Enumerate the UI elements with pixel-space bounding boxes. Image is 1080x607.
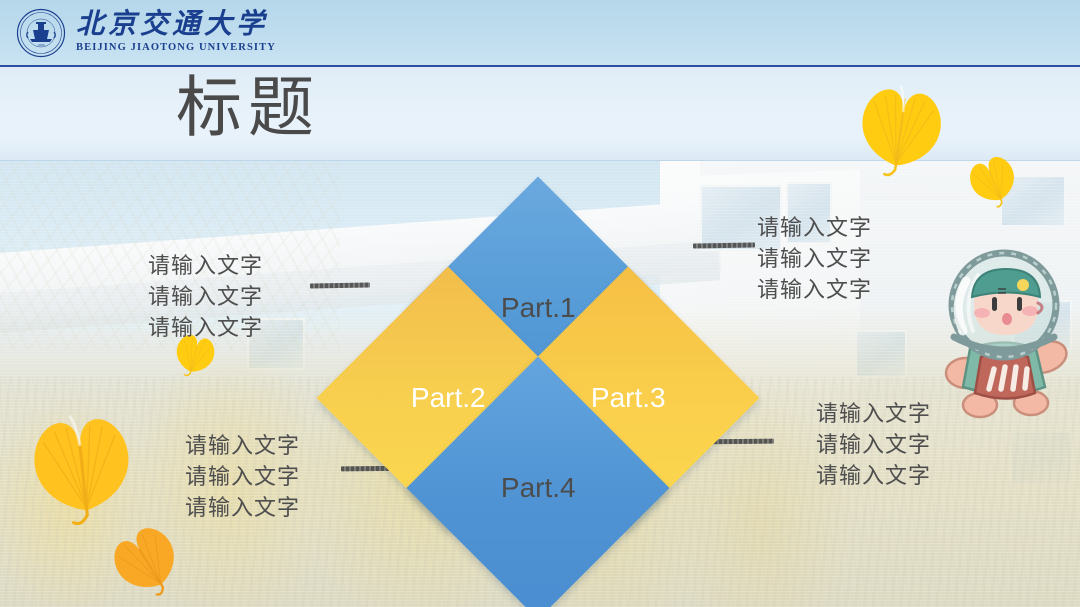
- callout-line: 请输入文字: [757, 243, 872, 274]
- page-title: 标题: [176, 74, 320, 140]
- slide-header: 1896 北京交通大学 BEIJING JIAOTONG UNIVERSITY: [0, 0, 1080, 67]
- callout-bottom-right[interactable]: 请输入文字 请输入文字 请输入文字: [816, 398, 931, 492]
- callout-line: 请输入文字: [185, 461, 300, 492]
- callout-line: 请输入文字: [816, 460, 931, 491]
- university-wordmark: 北京交通大学 BEIJING JIAOTONG UNIVERSITY: [76, 11, 276, 54]
- diagram-part-1-label: Part.1: [501, 292, 576, 324]
- callout-line: 请输入文字: [148, 250, 263, 281]
- astronaut-mascot-icon: [918, 245, 1080, 420]
- diagram-part-4-label: Part.4: [501, 472, 576, 504]
- callout-top-left[interactable]: 请输入文字 请输入文字 请输入文字: [148, 250, 263, 344]
- diagram-part-3-label: Part.3: [591, 382, 666, 414]
- presentation-slide: 1896 北京交通大学 BEIJING JIAOTONG UNIVERSITY …: [0, 0, 1080, 607]
- svg-text:1896: 1896: [38, 43, 45, 47]
- callout-bottom-left[interactable]: 请输入文字 请输入文字 请输入文字: [185, 430, 300, 524]
- leaf-bottom-left-small-icon: [106, 522, 186, 598]
- university-name-cn: 北京交通大学: [76, 11, 276, 39]
- callout-line: 请输入文字: [757, 274, 872, 305]
- diagram-part-2-label: Part.2: [411, 382, 486, 414]
- university-logo: 1896 北京交通大学 BEIJING JIAOTONG UNIVERSITY: [0, 8, 276, 58]
- callout-line: 请输入文字: [148, 281, 263, 312]
- callout-line: 请输入文字: [816, 398, 931, 429]
- callout-line: 请输入文字: [148, 312, 263, 343]
- callout-line: 请输入文字: [185, 430, 300, 461]
- university-seal-icon: 1896: [16, 8, 66, 58]
- leaf-top-right-small-icon: [963, 152, 1023, 208]
- leaf-bottom-left-large-icon: [14, 405, 150, 525]
- callout-line: 请输入文字: [816, 429, 931, 460]
- leaf-top-right-large-icon: [845, 78, 957, 178]
- callout-line: 请输入文字: [185, 492, 300, 523]
- university-name-en: BEIJING JIAOTONG UNIVERSITY: [76, 43, 276, 54]
- callout-top-right[interactable]: 请输入文字 请输入文字 请输入文字: [757, 212, 872, 306]
- callout-line: 请输入文字: [757, 212, 872, 243]
- connector-dash-top-left: [310, 282, 370, 288]
